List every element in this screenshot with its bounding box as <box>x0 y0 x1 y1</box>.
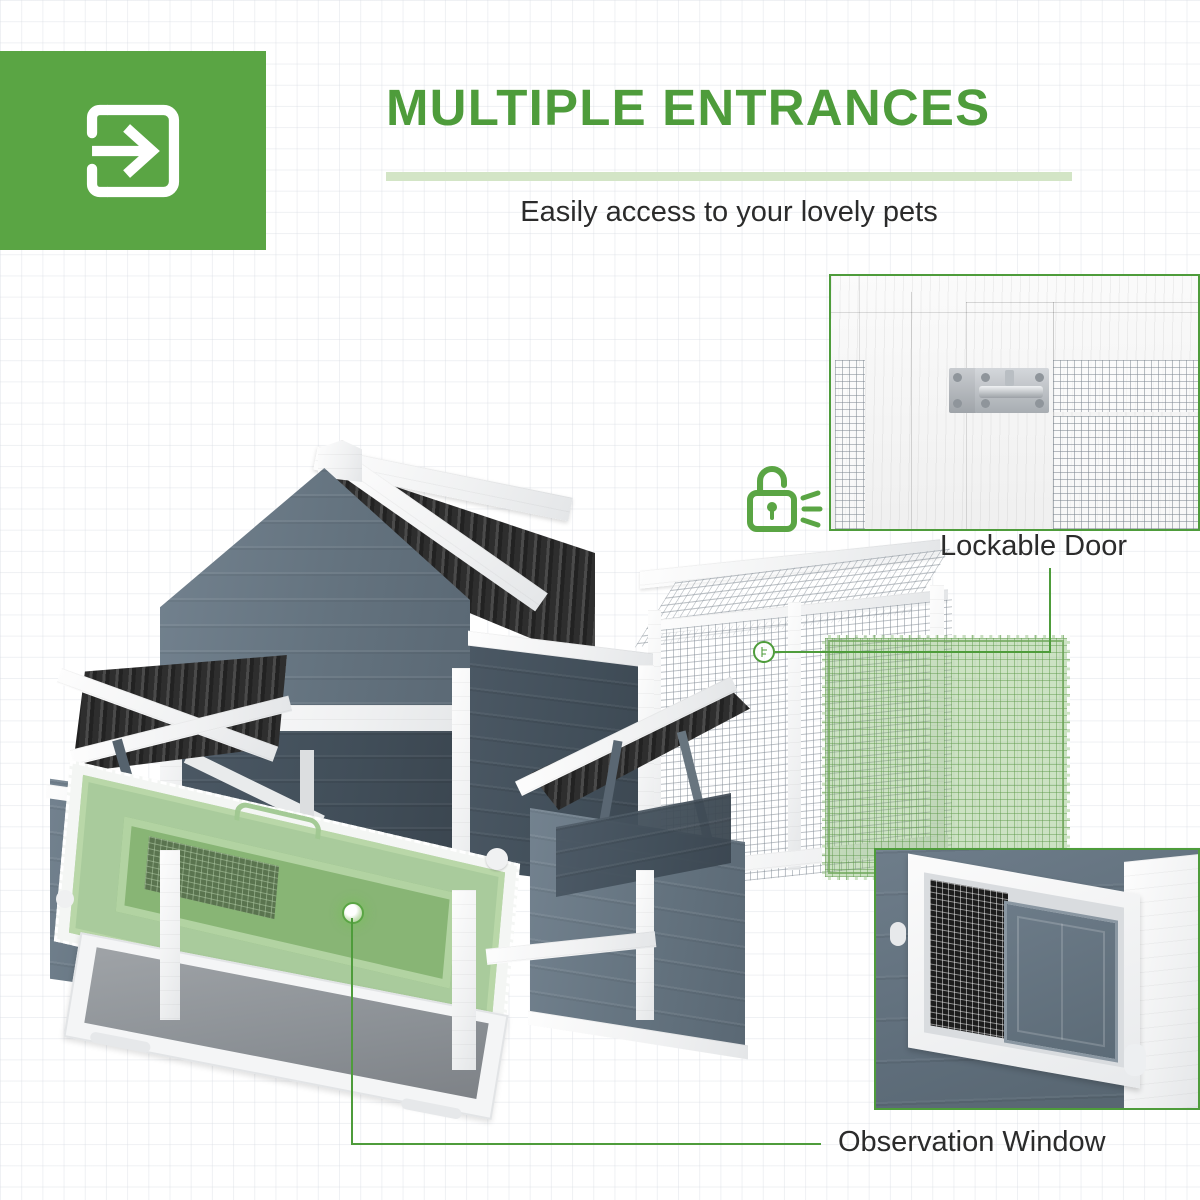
lockable-door-label: Lockable Door <box>940 530 1127 563</box>
inset-mesh-left <box>835 360 865 531</box>
product-image <box>0 250 900 1200</box>
lockable-door-inset <box>829 274 1200 531</box>
enter-arrow-icon <box>69 87 197 215</box>
observation-window-label: Observation Window <box>838 1126 1106 1159</box>
observation-window-inset <box>874 848 1200 1110</box>
observation-window-inset-mesh <box>930 879 1008 1039</box>
title-divider <box>386 172 1072 181</box>
header: MULTIPLE ENTRANCES Easily access to your… <box>0 0 1200 270</box>
tray-handle-left[interactable] <box>89 1031 151 1053</box>
door-knob-upper[interactable] <box>486 848 508 870</box>
tray-handle-right[interactable] <box>400 1098 462 1120</box>
unlock-icon <box>742 455 826 539</box>
page-title: MULTIPLE ENTRANCES <box>386 82 990 133</box>
latch-glyph-icon <box>757 645 771 659</box>
plank-seam-a <box>859 276 860 366</box>
run-post-mid <box>788 602 801 871</box>
plank-seam-top <box>831 312 1198 313</box>
leg-front-left <box>160 850 180 1020</box>
lockable-door-callout-line-h <box>775 651 1051 653</box>
inset-mesh-right-bottom <box>1053 416 1200 531</box>
leg-front-right <box>452 890 476 1070</box>
inset-hinge-bottom <box>1124 1044 1146 1076</box>
observation-window-callout-line-h <box>351 1143 821 1145</box>
enter-arrow-icon-badge <box>0 51 266 250</box>
lockable-mesh-door-frame <box>828 640 1064 874</box>
lockable-door-callout-line-v <box>1049 568 1051 653</box>
rail-seam <box>966 302 1200 303</box>
door-knob-lower[interactable] <box>56 890 74 908</box>
slide-bolt-latch[interactable] <box>949 368 1049 413</box>
inset-hinge-top <box>890 922 906 946</box>
observation-window-callout-line-v <box>351 918 353 1144</box>
inset-mesh-right-top <box>1053 360 1200 412</box>
observation-window-callout-dot[interactable] <box>342 902 364 924</box>
observation-window-frame <box>908 854 1140 1089</box>
page-subtitle: Easily access to your lovely pets <box>386 196 1072 229</box>
observation-window-slider-panel[interactable] <box>1004 900 1118 1062</box>
plank-seam-b <box>911 292 912 531</box>
plank-seam-c <box>966 302 967 531</box>
